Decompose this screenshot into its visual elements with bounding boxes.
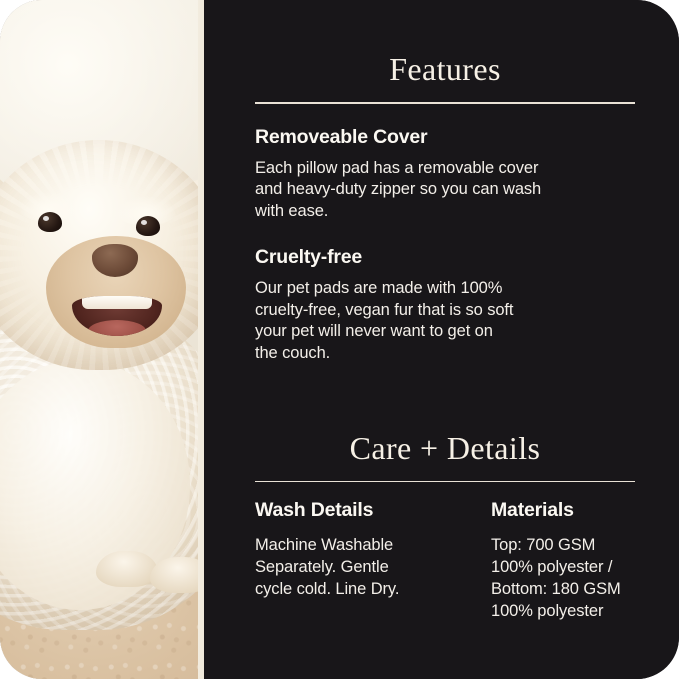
features-list: Removeable Cover Each pillow pad has a r…: [255, 126, 635, 365]
dog-eye-left: [38, 212, 62, 232]
care-divider: [255, 481, 635, 483]
info-panel: Features Removeable Cover Each pillow pa…: [204, 0, 679, 679]
materials-heading: Materials: [491, 499, 635, 522]
wash-details-body: Machine Washable Separately. Gentle cycl…: [255, 535, 467, 600]
product-photo: [0, 0, 204, 679]
product-info-card: Features Removeable Cover Each pillow pa…: [0, 0, 679, 679]
materials-body: Top: 700 GSM 100% polyester / Bottom: 18…: [491, 535, 635, 622]
features-divider: [255, 102, 635, 104]
feature-2-body: Our pet pads are made with 100% cruelty-…: [255, 278, 635, 365]
feature-2-heading: Cruelty-free: [255, 246, 635, 269]
dog-tongue: [88, 320, 146, 336]
feature-1-heading: Removeable Cover: [255, 126, 635, 149]
care-section: Care + Details Wash Details Machine Wash…: [255, 422, 635, 623]
feature-1-body: Each pillow pad has a removable cover an…: [255, 158, 635, 223]
care-title: Care + Details: [255, 422, 635, 467]
dog-teeth: [82, 296, 152, 309]
dog-paw-right: [150, 557, 204, 593]
dog-paw-left: [96, 551, 158, 587]
care-columns: Wash Details Machine Washable Separately…: [255, 499, 635, 622]
dog-eye-right: [136, 216, 160, 236]
feature-item-cruelty-free: Cruelty-free Our pet pads are made with …: [255, 246, 635, 365]
wash-details-heading: Wash Details: [255, 499, 467, 522]
care-column-materials: Materials Top: 700 GSM 100% polyester / …: [491, 499, 635, 622]
care-column-wash-details: Wash Details Machine Washable Separately…: [255, 499, 467, 622]
feature-item-removeable-cover: Removeable Cover Each pillow pad has a r…: [255, 126, 635, 223]
features-title: Features: [255, 0, 635, 88]
